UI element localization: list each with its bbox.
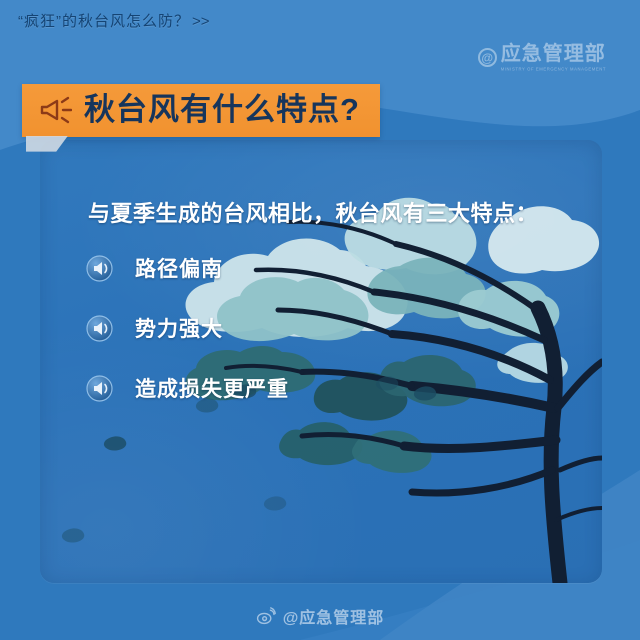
ministry-name-en: MINISTRY OF EMERGENCY MANAGEMENT bbox=[501, 67, 606, 72]
weibo-icon bbox=[256, 607, 276, 625]
kicker-text: “疯狂”的秋台风怎么防？ bbox=[18, 13, 190, 30]
list-item: 造成损失更严重 bbox=[86, 372, 289, 404]
list-item-label: 造成损失更严重 bbox=[135, 373, 289, 403]
speaker-icon bbox=[86, 255, 113, 282]
list-item: 势力强大 bbox=[86, 312, 289, 344]
ministry-name-cn: 应急管理部 bbox=[501, 44, 606, 64]
poster-canvas: “疯狂”的秋台风怎么防？>> @ 应急管理部 MINISTRY OF EMERG… bbox=[0, 0, 640, 640]
weibo-credit: @应急管理部 bbox=[0, 604, 640, 628]
list-item: 路径偏南 bbox=[86, 252, 289, 284]
megaphone-icon bbox=[38, 96, 72, 124]
list-item-label: 势力强大 bbox=[135, 313, 223, 343]
weibo-handle: @应急管理部 bbox=[283, 604, 385, 628]
section-banner: 秋台风有什么特点? bbox=[22, 84, 380, 137]
ministry-watermark: @ 应急管理部 MINISTRY OF EMERGENCY MANAGEMENT bbox=[478, 44, 606, 71]
speaker-icon bbox=[86, 375, 113, 402]
speaker-icon bbox=[86, 315, 113, 342]
banner-title: 秋台风有什么特点? bbox=[84, 92, 360, 128]
kicker-arrows: >> bbox=[192, 13, 210, 30]
list-item-label: 路径偏南 bbox=[135, 253, 223, 283]
at-sign-icon: @ bbox=[478, 48, 497, 67]
kicker-line: “疯狂”的秋台风怎么防？>> bbox=[18, 10, 210, 31]
feature-list: 路径偏南 势力强大 造成损失更严重 bbox=[86, 252, 289, 432]
intro-text: 与夏季生成的台风相比，秋台风有三大特点： bbox=[88, 196, 538, 228]
banner-body: 秋台风有什么特点? bbox=[22, 84, 380, 137]
